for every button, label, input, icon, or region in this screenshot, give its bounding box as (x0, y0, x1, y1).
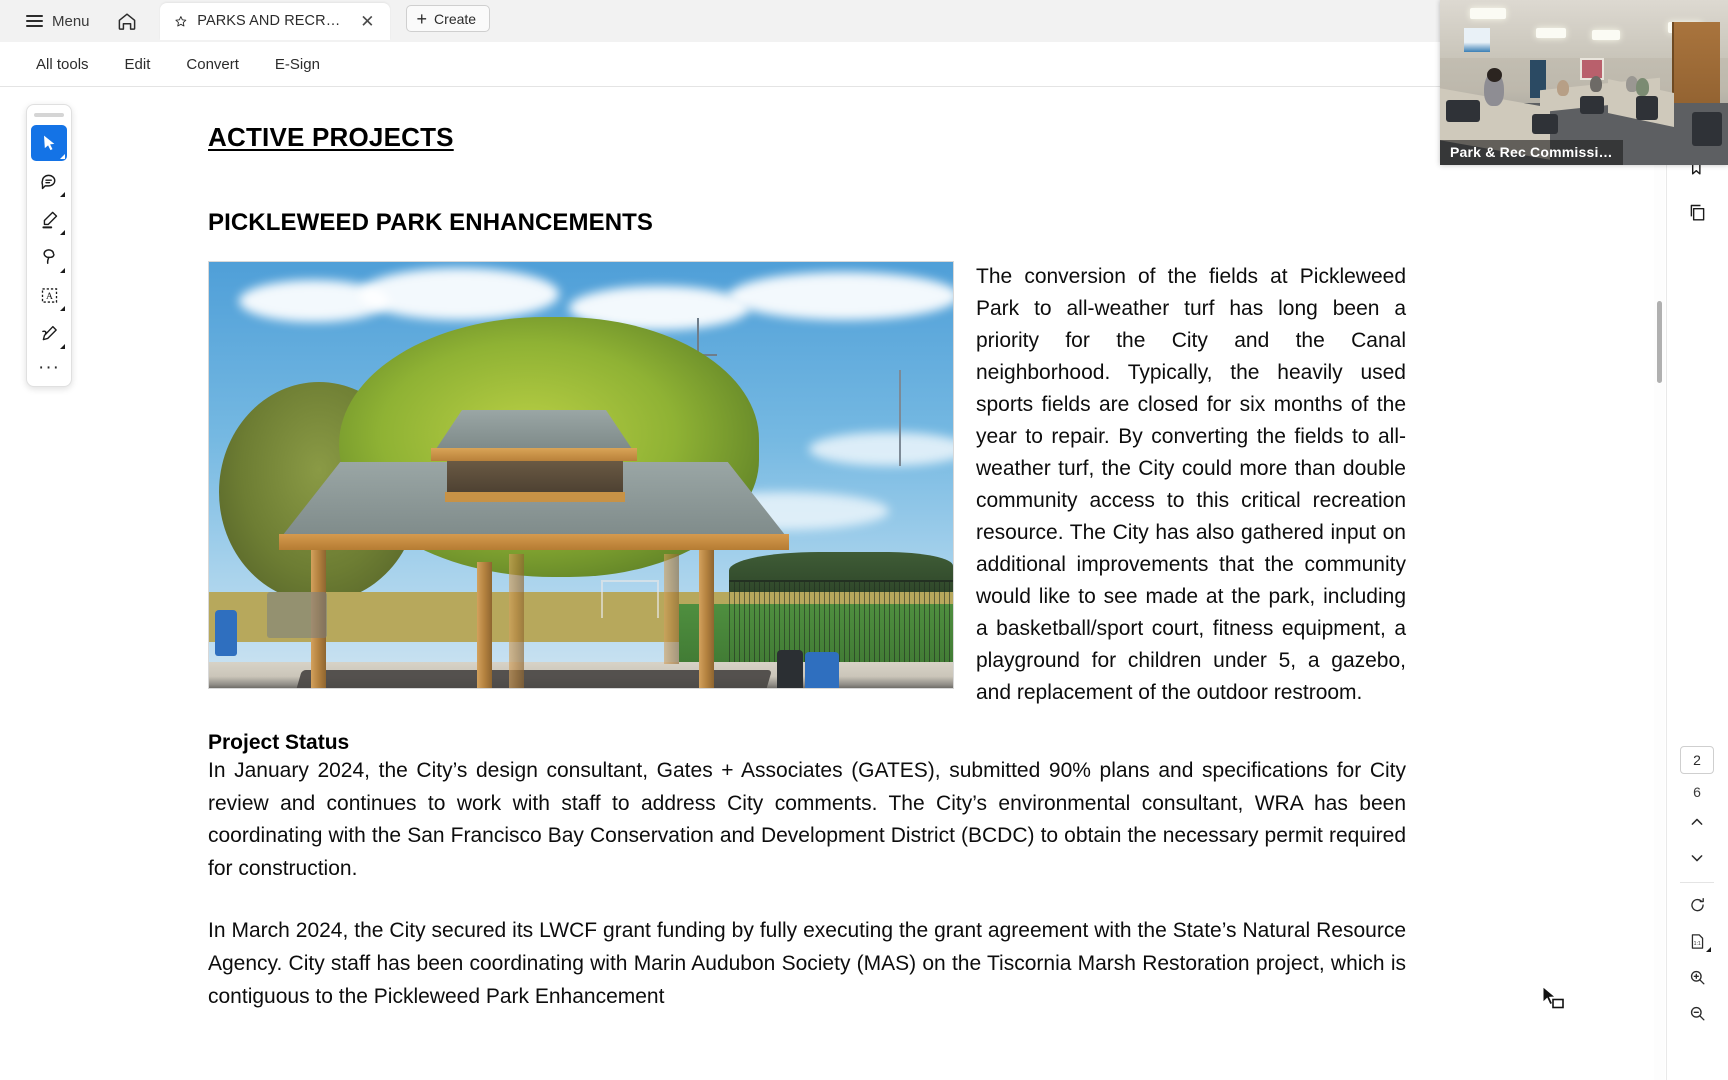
photo-gazebo-upper-beam (431, 448, 637, 461)
photo-gazebo-cupola (447, 460, 623, 494)
project-status-paragraph-1: In January 2024, the City’s design consu… (208, 755, 1406, 885)
document-tab[interactable]: PARKS AND RECREATIO… ✕ (160, 3, 390, 40)
tool-options-caret (60, 230, 65, 235)
park-gazebo-photo (208, 261, 954, 689)
select-tool-button[interactable] (31, 125, 67, 161)
hamburger-icon (26, 15, 43, 27)
page-title: ACTIVE PROJECTS (208, 122, 1406, 153)
video-ceiling-light (1592, 30, 1620, 40)
star-icon (174, 13, 188, 30)
video-chair (1580, 96, 1604, 114)
video-attendee-head (1487, 68, 1502, 82)
photo-cloud (729, 272, 954, 320)
photo-gazebo-pad (276, 670, 772, 689)
video-participant-label: Park & Rec Commissi… (1440, 140, 1623, 165)
highlight-tool-button[interactable] (31, 201, 67, 237)
cursor-arrow-icon (39, 133, 59, 153)
video-chair (1532, 114, 1558, 134)
photo-soccer-goal (601, 580, 659, 618)
svg-text:A: A (46, 290, 53, 301)
previous-page-button[interactable] (1678, 806, 1716, 838)
photo-gazebo-post (509, 554, 524, 689)
svg-text:1:1: 1:1 (1693, 940, 1700, 946)
video-attendee (1557, 80, 1569, 96)
photo-trash-bin (777, 650, 803, 689)
pages-panel-button[interactable] (1678, 194, 1718, 230)
home-icon (116, 11, 138, 32)
pdf-page: ACTIVE PROJECTS PICKLEWEED PARK ENHANCEM… (0, 88, 1616, 1080)
page-thumbnails-icon (1687, 202, 1708, 223)
highlighter-icon (39, 209, 60, 230)
page-navigation-controls: 2 6 1:1 (1666, 740, 1728, 1080)
video-attendee (1636, 78, 1649, 96)
tool-options-caret (60, 268, 65, 273)
document-viewport[interactable]: ACTIVE PROJECTS PICKLEWEED PARK ENHANCEM… (0, 88, 1728, 1080)
video-chair (1692, 112, 1722, 146)
zoom-in-icon (1688, 968, 1707, 987)
chevron-down-icon (1688, 849, 1706, 867)
zoom-out-icon (1688, 1004, 1707, 1023)
home-button[interactable] (108, 4, 146, 38)
tab-edit[interactable]: Edit (111, 50, 165, 79)
sign-tool-button[interactable] (31, 315, 67, 351)
plus-icon: + (417, 10, 428, 28)
zoom-out-button[interactable] (1678, 997, 1716, 1029)
tool-options-caret (60, 192, 65, 197)
scrollbar-thumb[interactable] (1657, 301, 1662, 383)
tab-e-sign[interactable]: E-Sign (261, 50, 334, 79)
fit-options-caret (1706, 947, 1711, 952)
lasso-tool-button[interactable] (31, 239, 67, 275)
photo-gazebo-post (477, 562, 492, 689)
section-heading: PICKLEWEED PARK ENHANCEMENTS (208, 209, 1406, 237)
create-button[interactable]: + Create (406, 5, 491, 32)
text-select-tool-button[interactable]: A (31, 277, 67, 313)
menu-button[interactable]: Menu (18, 6, 98, 36)
photo-trash-bin (215, 610, 237, 656)
project-status-heading: Project Status (208, 731, 1406, 755)
document-tab-title: PARKS AND RECREATIO… (197, 13, 347, 29)
tab-convert[interactable]: Convert (172, 50, 253, 79)
tab-strip-left: Menu PARKS AND RECREATIO… ✕ + Create (0, 0, 490, 42)
text-box-icon: A (39, 285, 60, 306)
video-ceiling-light (1470, 8, 1506, 19)
photo-gazebo-upper-roof (434, 410, 634, 452)
pdf-reader-window: Menu PARKS AND RECREATIO… ✕ + Create (0, 0, 1728, 1080)
rotate-clockwise-icon (1688, 896, 1707, 915)
photo-play-equipment (267, 592, 327, 638)
vertical-scrollbar[interactable] (1654, 88, 1665, 1080)
total-pages-label: 6 (1693, 778, 1701, 802)
video-ceiling-light (1536, 28, 1566, 38)
tool-options-caret (60, 344, 65, 349)
project-status-paragraph-2: In March 2024, the City secured its LWCF… (208, 915, 1406, 1013)
tab-all-tools[interactable]: All tools (22, 50, 103, 79)
create-label: Create (434, 11, 476, 27)
close-tab-button[interactable]: ✕ (357, 11, 377, 32)
zoom-in-button[interactable] (1678, 961, 1716, 993)
right-sidebar: 2 6 1:1 (1666, 88, 1728, 1080)
drag-handle[interactable] (34, 113, 64, 117)
photo-cupola-trim (445, 492, 625, 502)
photo-gazebo-post (664, 554, 679, 664)
photo-trash-bin (805, 652, 839, 689)
rotate-button[interactable] (1678, 889, 1716, 921)
photo-text-block: The conversion of the fields at Picklewe… (208, 261, 1406, 709)
lasso-loop-icon (39, 247, 60, 268)
chevron-up-icon (1688, 813, 1706, 831)
menu-label: Menu (52, 13, 90, 30)
video-wall-screen (1464, 28, 1490, 52)
photo-cloud (359, 268, 559, 320)
photo-gazebo-post (699, 548, 714, 689)
photo-transmission-tower (899, 370, 901, 466)
fit-page-button[interactable]: 1:1 (1678, 925, 1716, 957)
comment-bubble-icon (39, 171, 60, 192)
comment-tool-button[interactable] (31, 163, 67, 199)
photo-gazebo-beam (279, 534, 789, 550)
tool-options-caret (60, 306, 65, 311)
divider (1680, 882, 1714, 883)
tool-options-caret (60, 154, 65, 159)
video-chair (1636, 96, 1658, 120)
pen-signature-icon (39, 323, 60, 344)
video-conference-thumbnail[interactable]: Park & Rec Commissi… (1440, 0, 1728, 165)
video-chair (1446, 100, 1480, 122)
next-page-button[interactable] (1678, 842, 1716, 874)
video-attendee (1590, 76, 1602, 92)
fit-page-icon: 1:1 (1688, 932, 1707, 951)
annotation-toolbar: A ··· (26, 104, 72, 387)
more-tools-button[interactable]: ··· (38, 353, 60, 380)
current-page-input[interactable]: 2 (1680, 746, 1714, 774)
